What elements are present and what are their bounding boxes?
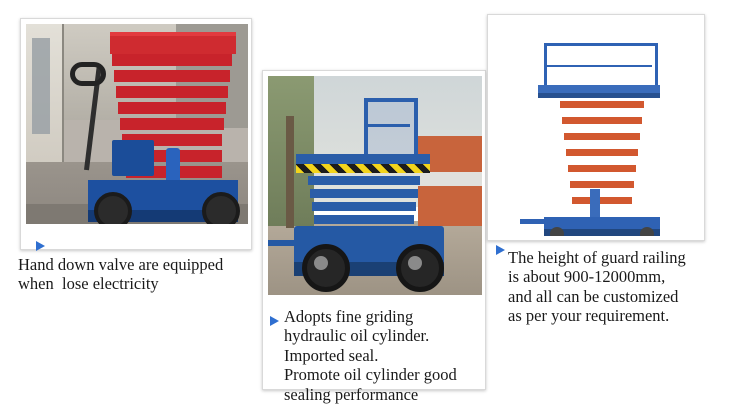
photo1-scissor-bar-2: [114, 70, 230, 82]
caption-3-line-2: is about 900-12000mm,: [496, 267, 741, 286]
photo2-yellow-black-stripe: [296, 164, 430, 173]
photo-card-3: [487, 14, 705, 241]
photo3-scissor-bar-5: [568, 165, 636, 172]
photo-card-1: [20, 18, 252, 250]
photo3-scissor-bar-1: [560, 101, 644, 108]
caption-2-line-5: sealing performance: [270, 385, 500, 404]
caption-3-line-3: and all can be customized: [496, 287, 741, 306]
photo3-scissor-bar-4: [566, 149, 638, 156]
photo1-wheel-front: [94, 192, 132, 224]
photo1-handle-grip: [70, 62, 106, 86]
caption-1-arrow-icon: [36, 241, 45, 251]
photo1-scissor-bar-3: [116, 86, 228, 98]
photo3-hydraulic-cylinder: [590, 189, 600, 219]
photo3-tow-bar: [520, 219, 548, 224]
photo1-window: [32, 38, 50, 134]
photo2-tree-trunk: [286, 116, 294, 228]
photo2-scissor-bar-3: [312, 202, 416, 211]
photo3-wheel-rear: [640, 227, 654, 236]
photo1-scissor-bar-5: [120, 118, 224, 130]
photo1-deck: [110, 36, 236, 54]
product-feature-collage: Hand down valve are equipped when lose e…: [0, 0, 750, 414]
photo2-wheel-rear: [396, 244, 444, 292]
caption-2-line-2: hydraulic oil cylinder.: [270, 326, 500, 345]
photo1-control-box: [112, 140, 154, 176]
photo3-scissor-bar-3: [564, 133, 640, 140]
photo1-wheel-rear: [202, 192, 240, 224]
photo3-scissor-bar-6: [570, 181, 634, 188]
photo3-scissor-bar-7: [572, 197, 632, 204]
caption-3-line-1: The height of guard railing: [496, 248, 741, 267]
photo2-wall-band: [418, 172, 482, 186]
caption-1: Hand down valve are equipped when lose e…: [18, 255, 268, 294]
photo2-wheel-front: [302, 244, 350, 292]
photo2-scissor-bar-1: [308, 176, 420, 185]
caption-3-line-4: as per your requirement.: [496, 306, 741, 325]
caption-1-line-1: Hand down valve are equipped: [18, 255, 268, 274]
caption-1-line-2: when lose electricity: [18, 274, 268, 293]
photo2-scissor-bar-4: [314, 215, 414, 224]
photo1-scissor-bar-4: [118, 102, 226, 114]
photo3-platform-edge: [538, 93, 660, 98]
photo2-guardrail-midbar: [364, 124, 410, 127]
blue-scissor-lift-white-background-photo: [494, 21, 700, 236]
caption-2-line-1: Adopts fine griding: [270, 307, 500, 326]
photo3-scissor-bar-2: [562, 117, 642, 124]
photo2-guardrail: [364, 98, 418, 158]
caption-2-line-3: Imported seal.: [270, 346, 500, 365]
blue-scissor-lift-yellow-guardrail-photo: [268, 76, 482, 295]
red-blue-scissor-lift-outdoor-photo: [26, 24, 248, 224]
photo2-scissor-bar-2: [310, 189, 418, 198]
photo1-scissor-bar-1: [112, 54, 232, 66]
photo3-guardrail-midbar: [544, 65, 652, 67]
caption-3: The height of guard railing is about 900…: [496, 248, 741, 326]
photo3-wheel-front: [550, 227, 564, 236]
photo2-hub-front: [314, 256, 328, 270]
caption-2-line-4: Promote oil cylinder good: [270, 365, 500, 384]
photo2-hub-rear: [408, 256, 422, 270]
caption-2: Adopts fine griding hydraulic oil cylind…: [270, 307, 500, 404]
photo2-tow-bar: [268, 240, 302, 246]
